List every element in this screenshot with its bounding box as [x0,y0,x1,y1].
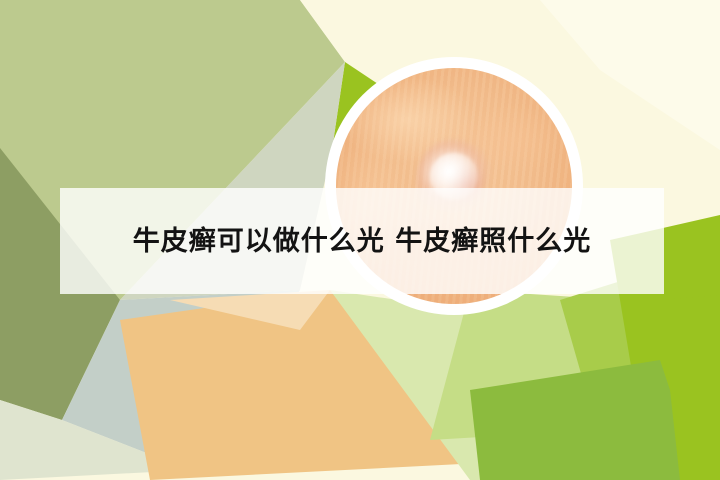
page-title: 牛皮癣可以做什么光 牛皮癣照什么光 [133,228,591,255]
title-band: 牛皮癣可以做什么光 牛皮癣照什么光 [60,188,664,294]
cover-image: 牛皮癣可以做什么光 牛皮癣照什么光 [0,0,720,480]
